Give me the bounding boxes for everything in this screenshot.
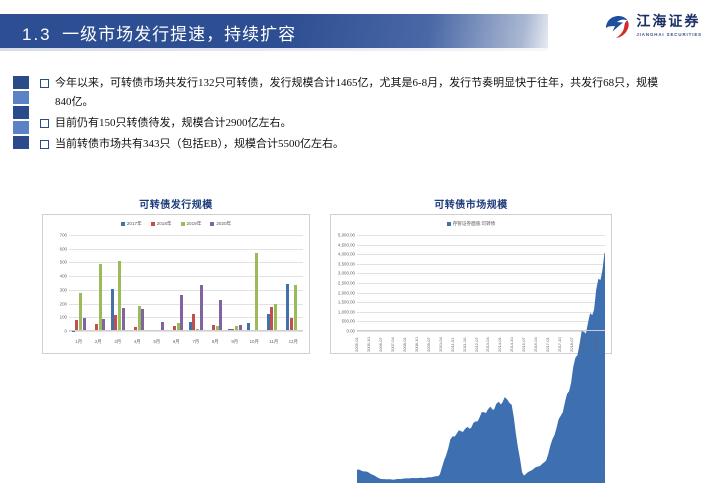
- x-axis-label: 2013-04: [485, 337, 490, 352]
- company-logo: 江海证券 JIANGHAI SECURITIES: [604, 14, 702, 40]
- x-axis-label: 2008-10: [414, 337, 419, 352]
- area-plot-area: 0.00500.001,000.001,500.002,000.002,500.…: [357, 235, 605, 331]
- y-axis-label: 700: [60, 233, 67, 238]
- legend-label: 存管证券面值:可转债: [453, 221, 496, 226]
- logo-name-en: JIANGHAI SECURITIES: [636, 33, 702, 37]
- legend-label: 2017年: [127, 221, 142, 226]
- bar: [267, 314, 270, 331]
- bar-group: [108, 235, 128, 331]
- page-title: 1.3 一级市场发行提速，持续扩容: [22, 20, 296, 45]
- decoration-squares: [13, 76, 29, 149]
- bar: [118, 261, 121, 331]
- y-axis-label: 1,000.00: [338, 309, 355, 314]
- bar-group: [284, 235, 304, 331]
- bar: [99, 264, 102, 331]
- bar: [192, 314, 195, 331]
- x-axis-label: 1月: [69, 339, 89, 345]
- legend-item: 2017年: [121, 221, 142, 227]
- bar-group: [167, 235, 187, 331]
- bar-group: [147, 235, 167, 331]
- bar: [274, 304, 277, 331]
- x-axis-label: 7月: [186, 339, 206, 345]
- bar-group: [245, 235, 265, 331]
- section-title: 一级市场发行提速，持续扩容: [62, 25, 296, 44]
- y-axis-label: 0: [65, 329, 67, 334]
- y-axis-label: 400: [60, 274, 67, 279]
- legend-swatch: [151, 222, 155, 226]
- x-axis-label: 2018-07: [569, 337, 574, 352]
- y-axis-label: 3,000.00: [338, 271, 355, 276]
- x-axis-label: 2017-10: [557, 337, 562, 352]
- list-item: 今年以来，可转债市场共发行132只可转债，发行规模合计1465亿，尤其是6-8月…: [40, 74, 670, 112]
- x-axis-label: 2005-01: [354, 337, 359, 352]
- bar: [114, 315, 117, 331]
- y-axis-label: 600: [60, 246, 67, 251]
- bar-chart: 2017年2018年2019年2020年 0100200300400500600…: [42, 214, 310, 354]
- y-axis-label: 200: [60, 301, 67, 306]
- legend-swatch: [181, 222, 185, 226]
- bar-group: [89, 235, 109, 331]
- list-item: 目前仍有150只转债待发，规模合计2900亿左右。: [40, 114, 670, 133]
- area-series-path: [357, 235, 605, 483]
- x-axis-label: 2005-10: [366, 337, 371, 352]
- bar: [180, 295, 183, 331]
- bar-chart-legend: 2017年2018年2019年2020年: [43, 215, 309, 227]
- y-axis-label: 2,000.00: [338, 290, 355, 295]
- decoration-square: [13, 106, 29, 119]
- bullet-text: 当前转债市场共有343只（包括EB），规模合计5500亿左右。: [55, 135, 344, 154]
- bar: [141, 309, 144, 331]
- area-chart-x-labels: 2005-012005-102006-072007-042008-012008-…: [357, 330, 605, 352]
- area-chart: 存管证券面值:可转债 0.00500.001,000.001,500.002,0…: [330, 214, 612, 354]
- bar-plot-area: 0100200300400500600700: [69, 235, 303, 331]
- y-axis-label: 0.00: [346, 329, 355, 334]
- slide: 1.3 一级市场发行提速，持续扩容 江海证券 JIANGHAI SECURITI…: [0, 0, 712, 400]
- x-axis-label: 8月: [206, 339, 226, 345]
- y-axis-label: 500: [60, 260, 67, 265]
- x-axis-label: 2008-01: [402, 337, 407, 352]
- gridline: [69, 331, 303, 332]
- decoration-square: [13, 76, 29, 89]
- x-axis-label: 9月: [225, 339, 245, 345]
- bar-series-container: [69, 235, 303, 331]
- x-axis-label: 10月: [245, 339, 265, 345]
- decoration-square: [13, 121, 29, 134]
- bar: [111, 289, 114, 331]
- x-axis-label: 2017-01: [545, 337, 550, 352]
- y-axis-label: 1,500.00: [338, 300, 355, 305]
- x-axis-label: 2009-07: [426, 337, 431, 352]
- bar: [138, 306, 141, 331]
- x-axis-label: 6月: [167, 339, 187, 345]
- legend-item: 2020年: [210, 221, 231, 227]
- bullet-square-icon: [40, 140, 49, 149]
- bar-group: [186, 235, 206, 331]
- bullet-square-icon: [40, 79, 49, 88]
- list-item: 当前转债市场共有343只（包括EB），规模合计5500亿左右。: [40, 135, 670, 154]
- chart-title-market-size: 可转债市场规模: [330, 196, 612, 211]
- x-axis-label: 12月: [284, 339, 304, 345]
- y-axis-label: 500.00: [342, 319, 355, 324]
- x-axis-label: 2010-04: [438, 337, 443, 352]
- y-axis-label: 4,500.00: [338, 242, 355, 247]
- y-axis-label: 4,000.00: [338, 252, 355, 257]
- bar-chart-x-labels: 1月2月3月4月5月6月7月8月9月10月11月12月: [69, 339, 303, 345]
- area-chart-legend: 存管证券面值:可转债: [331, 215, 611, 227]
- bullet-text: 今年以来，可转债市场共发行132只可转债，发行规模合计1465亿，尤其是6-8月…: [55, 74, 670, 112]
- x-axis-label: 2014-10: [509, 337, 514, 352]
- y-axis-label: 300: [60, 287, 67, 292]
- legend-swatch: [210, 222, 214, 226]
- decoration-square: [13, 91, 29, 104]
- x-axis-label: 2016-04: [533, 337, 538, 352]
- bar: [219, 300, 222, 331]
- bullet-text: 目前仍有150只转债待发，规模合计2900亿左右。: [55, 114, 292, 133]
- legend-item: 存管证券面值:可转债: [447, 221, 496, 227]
- x-axis-label: 3月: [108, 339, 128, 345]
- x-axis-label: 2007-04: [390, 337, 395, 352]
- section-number: 1.3: [22, 25, 52, 44]
- legend-item: 2019年: [181, 221, 202, 227]
- logo-text: 江海证券 JIANGHAI SECURITIES: [636, 16, 702, 37]
- legend-swatch: [121, 222, 125, 226]
- x-axis-label: 2020-01: [593, 337, 598, 352]
- x-axis-label: 2011-01: [450, 338, 455, 352]
- x-axis-label: 5月: [147, 339, 167, 345]
- bar-group: [69, 235, 89, 331]
- legend-item: 2018年: [151, 221, 172, 227]
- bar-group: [206, 235, 226, 331]
- y-axis-label: 2,500.00: [338, 281, 355, 286]
- bar: [200, 285, 203, 331]
- legend-label: 2018年: [157, 221, 172, 226]
- bar: [270, 307, 273, 331]
- bullet-list: 今年以来，可转债市场共发行132只可转债，发行规模合计1465亿，尤其是6-8月…: [40, 74, 670, 156]
- issuance-chart-panel: 可转债发行规模 2017年2018年2019年2020年 01002003004…: [42, 196, 310, 354]
- x-axis-label: 2月: [89, 339, 109, 345]
- y-axis-label: 100: [60, 315, 67, 320]
- legend-label: 2019年: [187, 221, 202, 226]
- chart-title-issuance: 可转债发行规模: [42, 196, 310, 211]
- bar: [286, 284, 289, 331]
- market-size-chart-panel: 可转债市场规模 存管证券面值:可转债 0.00500.001,000.001,5…: [330, 196, 612, 354]
- x-axis-label: 2012-07: [474, 337, 479, 352]
- x-axis-label: 11月: [264, 339, 284, 345]
- x-axis-label: 4月: [128, 339, 148, 345]
- x-axis-label: 2014-01: [497, 337, 502, 352]
- y-axis-label: 3,500.00: [338, 261, 355, 266]
- bar-group: [264, 235, 284, 331]
- x-axis-label: 2006-07: [378, 337, 383, 352]
- legend-label: 2020年: [216, 221, 231, 226]
- x-axis-label: 2011-10: [462, 338, 467, 352]
- x-axis-label: 2015-07: [521, 337, 526, 352]
- bar: [255, 253, 258, 331]
- logo-name-cn: 江海证券: [636, 16, 702, 30]
- logo-swoosh-icon: [604, 14, 630, 40]
- bar-group: [225, 235, 245, 331]
- x-axis-label: 2019-04: [581, 337, 586, 352]
- bar: [122, 308, 125, 331]
- y-axis-label: 5,000.00: [338, 233, 355, 238]
- bar: [294, 285, 297, 331]
- bullet-square-icon: [40, 119, 49, 128]
- x-axis-line: [69, 330, 303, 331]
- legend-swatch: [447, 222, 451, 226]
- decoration-square: [13, 136, 29, 149]
- bar-group: [128, 235, 148, 331]
- bar: [79, 293, 82, 331]
